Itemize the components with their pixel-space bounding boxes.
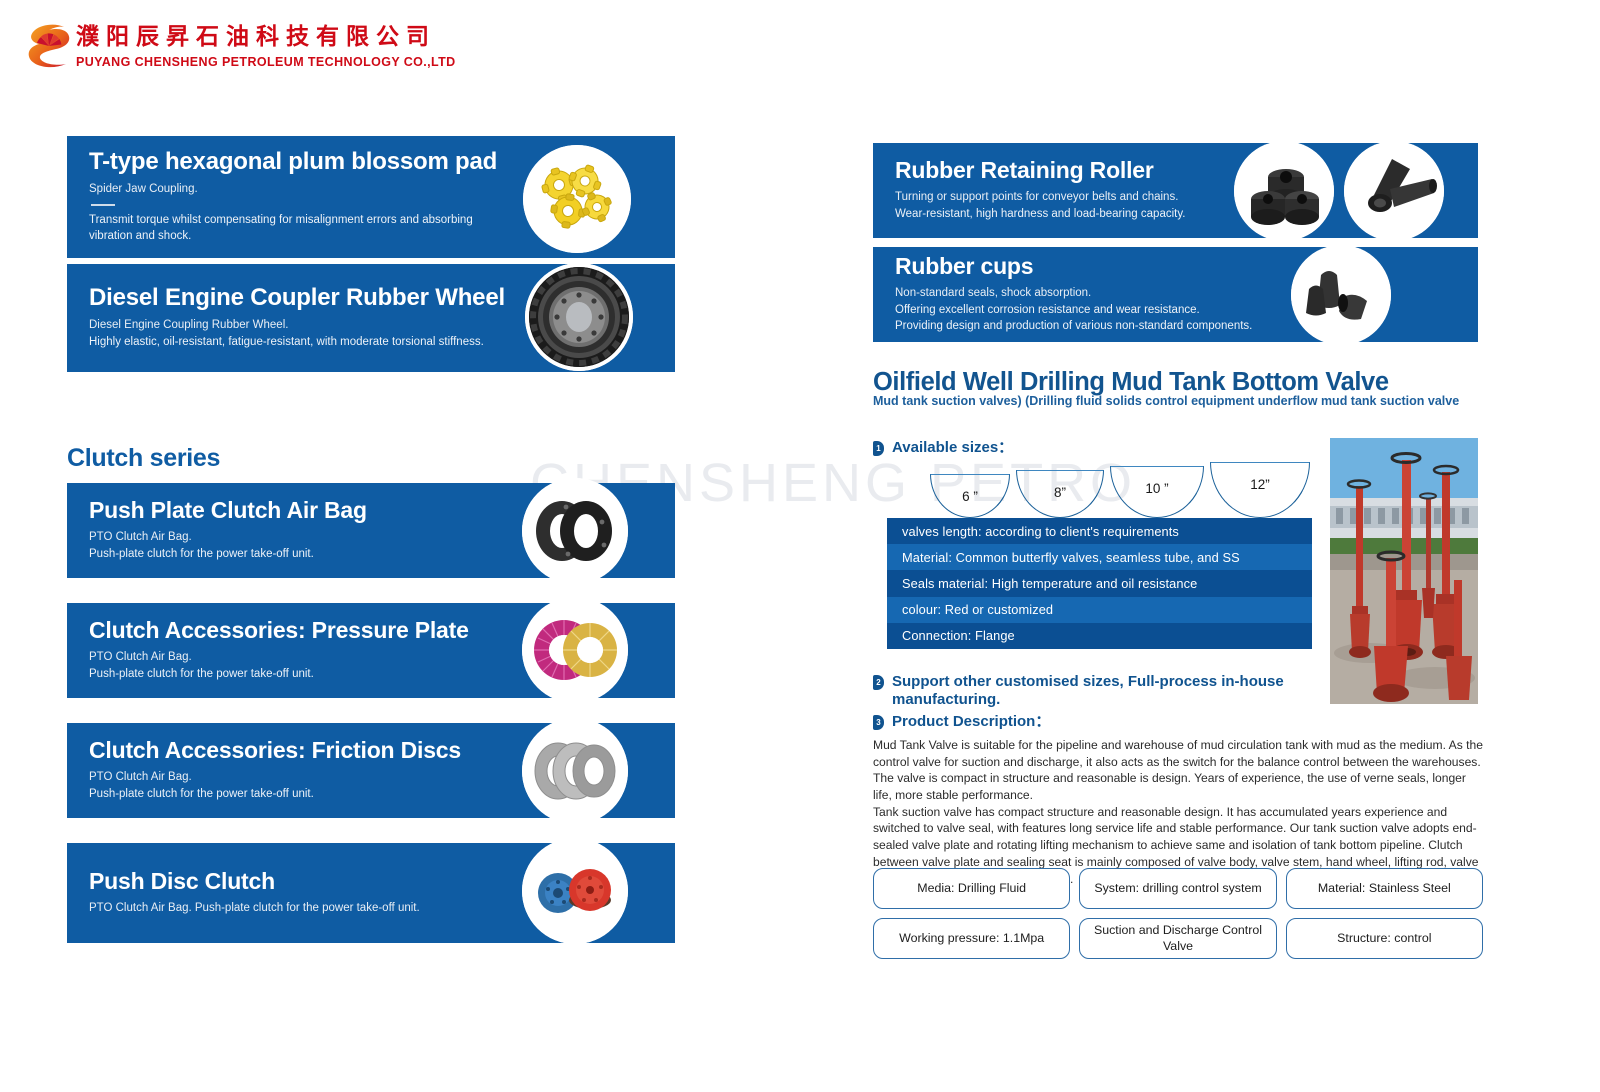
bullet-flag-icon: 1	[873, 441, 884, 456]
bullet-available-sizes: 1 Available sizes：	[873, 439, 1173, 457]
available-sizes-group: 6 ” 8” 10 ” 12”	[930, 462, 1310, 518]
size-shape-10in: 10 ”	[1110, 466, 1204, 518]
bullet-label: Available sizes：	[892, 439, 1013, 457]
bullet-label: Support other customised sizes, Full-pro…	[892, 673, 1323, 709]
valve-spec-table: valves length: according to client's req…	[887, 518, 1312, 649]
page-header: 濮阳辰昇石油科技有限公司 PUYANG CHENSHENG PETROLEUM …	[0, 0, 1600, 92]
company-name-en: PUYANG CHENSHENG PETROLEUM TECHNOLOGY CO…	[76, 55, 456, 69]
size-shape-12in: 12”	[1210, 462, 1310, 518]
spec-row: Material: Common butterfly valves, seaml…	[887, 544, 1312, 570]
bullet-label: Product Description：	[892, 713, 1050, 731]
friction-discs-photo	[522, 718, 628, 824]
rubber-cups-photo	[1291, 245, 1391, 345]
bullet-flag-icon: 3	[873, 715, 884, 730]
card-line-3: Providing design and production of vario…	[895, 318, 1478, 335]
pill-working-pressure[interactable]: Working pressure: 1.1Mpa	[873, 918, 1070, 959]
brochure-page: 濮阳辰昇石油科技有限公司 PUYANG CHENSHENG PETROLEUM …	[0, 0, 1600, 1092]
company-name-cn: 濮阳辰昇石油科技有限公司	[76, 24, 456, 50]
company-name-block: 濮阳辰昇石油科技有限公司 PUYANG CHENSHENG PETROLEUM …	[76, 24, 456, 69]
pill-control-valve[interactable]: Suction and Discharge Control Valve	[1079, 918, 1276, 959]
bullet-customised-sizes: 2 Support other customised sizes, Full-p…	[873, 673, 1323, 709]
bullet-product-description: 3 Product Description：	[873, 713, 1173, 731]
push-disc-clutch-photo	[522, 838, 628, 944]
pill-system[interactable]: System: drilling control system	[1079, 868, 1276, 909]
valve-section-title: Oilfield Well Drilling Mud Tank Bottom V…	[873, 368, 1389, 397]
rubber-elbow-roller-photo	[1344, 141, 1444, 241]
card-title: Rubber cups	[895, 254, 1478, 280]
size-label: 6 ”	[962, 489, 978, 504]
card-line-2: Offering excellent corrosion resistance …	[895, 302, 1478, 319]
spec-row: valves length: according to client's req…	[887, 518, 1312, 544]
rubber-retaining-rollers-photo	[1234, 141, 1334, 241]
bullet-flag-icon: 2	[873, 675, 884, 690]
size-label: 10 ”	[1145, 481, 1168, 496]
pill-structure[interactable]: Structure: control	[1286, 918, 1483, 959]
size-label: 12”	[1250, 477, 1270, 492]
card-divider	[91, 204, 115, 206]
size-label: 8”	[1054, 485, 1066, 500]
spec-row: Connection: Flange	[887, 623, 1312, 649]
card-description: Transmit torque whilst compensating for …	[89, 212, 499, 245]
pill-material[interactable]: Material: Stainless Steel	[1286, 868, 1483, 909]
chensheng-s-logo-icon	[22, 20, 76, 72]
push-plate-clutch-air-bag-photo	[522, 478, 628, 584]
red-mud-tank-valves-yard-photo	[1330, 438, 1478, 704]
description-paragraph: Mud Tank Valve is suitable for the pipel…	[873, 737, 1483, 804]
spec-row: Seals material: High temperature and oil…	[887, 570, 1312, 596]
size-shape-6in: 6 ”	[930, 474, 1010, 518]
yellow-spider-jaw-coupling-photo	[523, 145, 631, 253]
diesel-engine-coupler-rubber-wheel-photo	[525, 263, 633, 371]
section-heading-clutch-series: Clutch series	[67, 444, 220, 473]
size-shape-8in: 8”	[1016, 470, 1104, 518]
pressure-plate-photo	[522, 597, 628, 703]
pill-media[interactable]: Media: Drilling Fluid	[873, 868, 1070, 909]
valve-attribute-pills: Media: Drilling Fluid System: drilling c…	[873, 868, 1483, 959]
valve-section-subtitle: Mud tank suction valves) (Drilling fluid…	[873, 394, 1459, 408]
valve-description-block: Mud Tank Valve is suitable for the pipel…	[873, 737, 1483, 887]
spec-row: colour: Red or customized	[887, 597, 1312, 623]
